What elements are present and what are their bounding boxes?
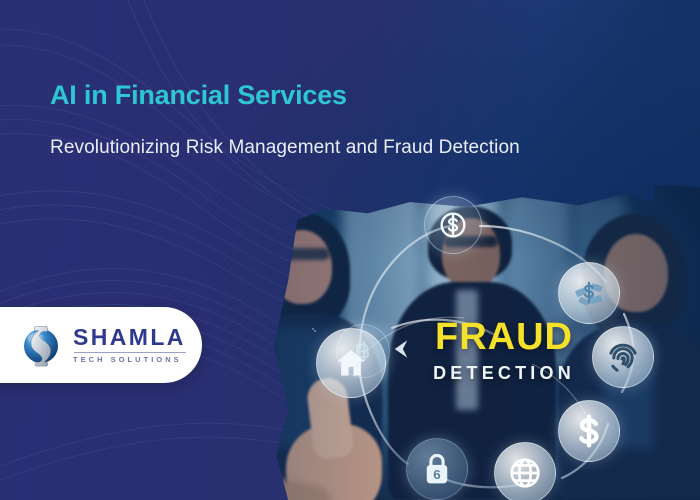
- fraud-headline: FRAUD: [424, 318, 584, 356]
- detection-subhead: DETECTION: [424, 363, 584, 384]
- fraud-detection-overlay: FRAUD DETECTION: [424, 318, 584, 384]
- banner-root: 6 FRAUD DETECTION AI in Financial Servic…: [0, 0, 700, 500]
- page-subtitle: Revolutionizing Risk Management and Frau…: [50, 133, 520, 163]
- page-title: AI in Financial Services: [50, 80, 520, 111]
- brand-logo-pill[interactable]: SHAMLA TECH SOLUTIONS: [0, 307, 202, 383]
- sphere-s-emblem-icon: [18, 320, 64, 370]
- brand-divider: [74, 352, 186, 353]
- brand-name: SHAMLA: [73, 326, 186, 349]
- brand-logo-text: SHAMLA TECH SOLUTIONS: [73, 326, 186, 363]
- headline-block: AI in Financial Services Revolutionizing…: [50, 80, 520, 163]
- brand-tagline: TECH SOLUTIONS: [73, 356, 186, 363]
